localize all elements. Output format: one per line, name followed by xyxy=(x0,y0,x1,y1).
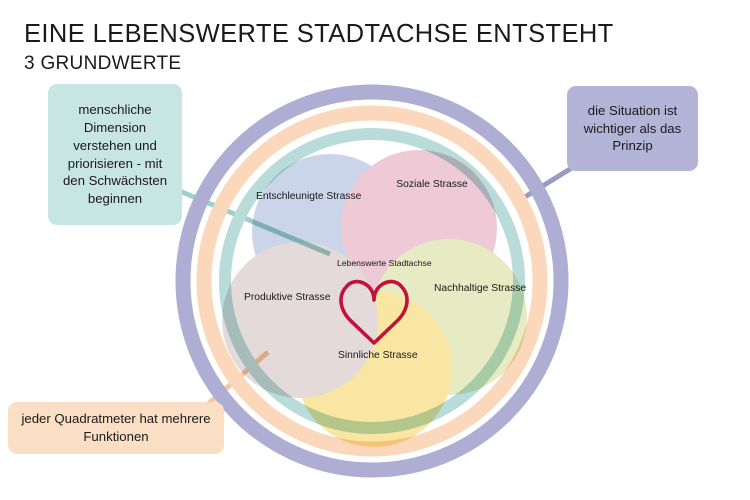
callout-human-dimension[interactable]: menschliche Dimension verstehen und prio… xyxy=(48,84,182,225)
callout-multifunction-square-meter-text: jeder Quadratmeter hat mehrere Funktione… xyxy=(16,410,216,445)
venn-label-entschleunigte: Entschleunigte Strasse xyxy=(256,190,348,204)
venn-center-label: Lebenswerte Stadtachse xyxy=(337,258,411,269)
venn-label-nachhaltige: Nachhaltige Strasse xyxy=(434,282,518,296)
venn-label-soziale: Soziale Strasse xyxy=(392,178,472,192)
callout-situation-over-principle[interactable]: die Situation ist wichtiger als das Prin… xyxy=(567,86,698,171)
callout-human-dimension-text: menschliche Dimension verstehen und prio… xyxy=(56,101,174,207)
slide-canvas: EINE LEBENSWERTE STADTACHSE ENTSTEHT 3 G… xyxy=(0,0,750,500)
callout-situation-over-principle-text: die Situation ist wichtiger als das Prin… xyxy=(575,102,690,155)
venn-label-sinnliche: Sinnliche Strasse xyxy=(338,349,416,363)
venn-label-produktive: Produktive Strasse xyxy=(244,291,322,305)
callout-multifunction-square-meter[interactable]: jeder Quadratmeter hat mehrere Funktione… xyxy=(8,402,224,454)
